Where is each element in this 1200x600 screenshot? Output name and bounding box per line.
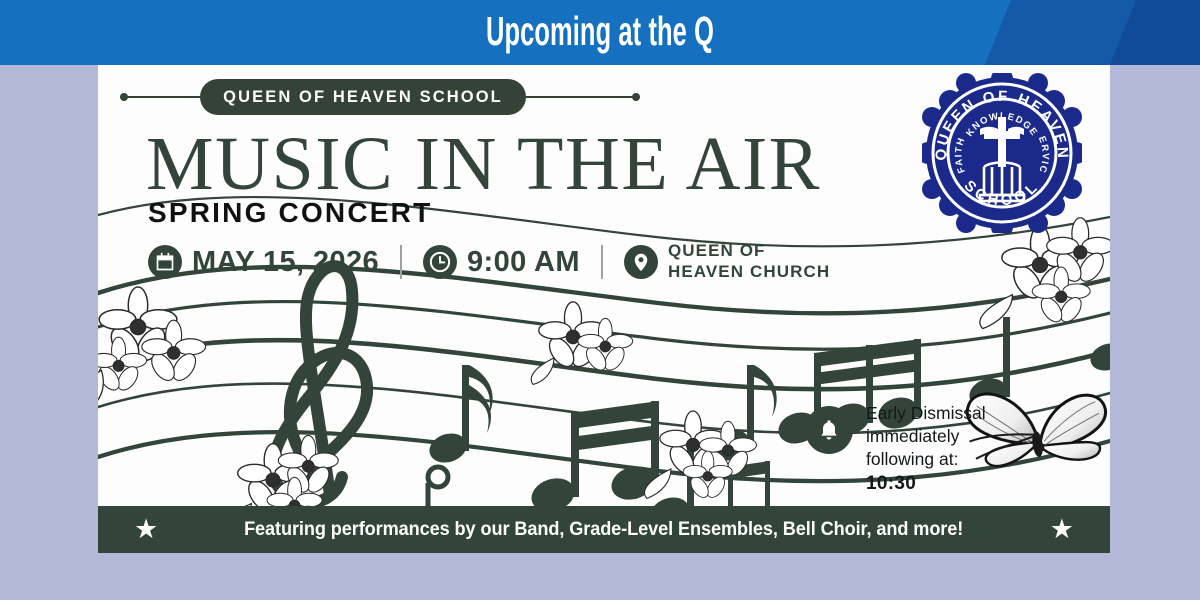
- detail-divider-1: [400, 245, 402, 279]
- eyebrow-row: QUEEN OF HEAVEN SCHOOL: [120, 79, 680, 115]
- event-headline: MUSIC IN THE AIR: [146, 121, 821, 208]
- bell-icon: [805, 406, 853, 454]
- detail-location-line2: HEAVEN CHURCH: [668, 262, 830, 281]
- early-dismissal-text: Early Dismissal immediately following at…: [866, 402, 986, 496]
- dismissal-line-2: immediately: [866, 426, 959, 446]
- event-flyer-card: QUEEN OF HEAVEN SCHOOL MUSIC IN THE AIR …: [98, 65, 1110, 553]
- event-details-row: MAY 15, 2026 9:00 AM: [148, 239, 830, 285]
- clock-icon: [423, 245, 457, 279]
- dismissal-line-1: Early Dismissal: [866, 403, 986, 423]
- screenshot-canvas: Upcoming at the Q: [0, 0, 1200, 600]
- event-subheadline: SPRING CONCERT: [148, 197, 432, 229]
- dismissal-line-3: following at:: [866, 449, 958, 469]
- detail-date-text: MAY 15, 2026: [192, 246, 379, 279]
- detail-location: QUEEN OF HEAVEN CHURCH: [624, 241, 830, 282]
- school-name-pill: QUEEN OF HEAVEN SCHOOL: [200, 79, 526, 115]
- dismissal-time: 10:30: [866, 473, 916, 494]
- page-header-bar: Upcoming at the Q: [0, 0, 1200, 65]
- detail-time: 9:00 AM: [423, 245, 580, 279]
- early-dismissal-note: Early Dismissal immediately following at…: [805, 402, 986, 496]
- page-title: Upcoming at the Q: [228, 0, 972, 65]
- detail-time-text: 9:00 AM: [467, 246, 580, 279]
- banner-text: Featuring performances by our Band, Grad…: [244, 518, 963, 541]
- school-crest-logo: QUEEN OF HEAVEN SCHOOL KNOWLEDGE FAITH S…: [922, 73, 1082, 233]
- rule-line-right: [522, 96, 636, 98]
- star-icon-right: ★: [1050, 516, 1074, 543]
- detail-location-text: QUEEN OF HEAVEN CHURCH: [668, 241, 830, 282]
- calendar-icon: [148, 245, 182, 279]
- detail-location-line1: QUEEN OF: [668, 241, 766, 260]
- star-icon-left: ★: [134, 516, 158, 543]
- rule-dot-right: [632, 93, 640, 101]
- bottom-banner: ★ Featuring performances by our Band, Gr…: [98, 506, 1110, 553]
- detail-date: MAY 15, 2026: [148, 245, 379, 279]
- location-pin-icon: [624, 245, 658, 279]
- rule-line-left: [126, 96, 204, 98]
- detail-divider-2: [601, 245, 603, 279]
